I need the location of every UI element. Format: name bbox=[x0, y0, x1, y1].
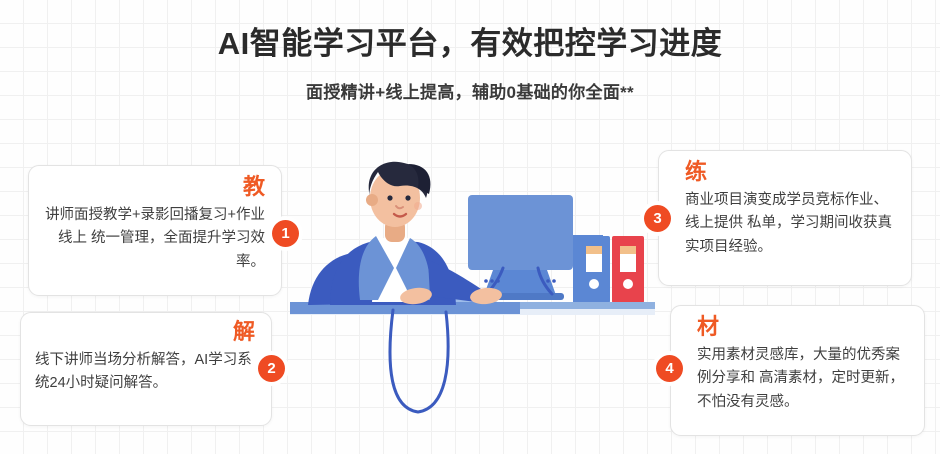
cable-icon bbox=[390, 310, 448, 412]
card-4-body: 实用素材灵感库，大量的优秀案例分享和 高清素材，定时更新，不怕没有灵感。 bbox=[697, 344, 910, 414]
card-3-body: 商业项目演变成学员竞标作业、线上提供 私单，学习期间收获真实项目经验。 bbox=[685, 189, 897, 259]
blue-binder-icon bbox=[577, 236, 610, 303]
eye-right bbox=[405, 195, 410, 200]
eye-left bbox=[387, 195, 392, 200]
card-1-heading: 教 bbox=[43, 176, 265, 198]
page-title: AI智能学习平台，有效把控学习进度 bbox=[0, 18, 940, 63]
page-root: AI智能学习平台，有效把控学习进度 面授精讲+线上提高，辅助0基础的你全面** bbox=[0, 0, 940, 454]
monitor-icon bbox=[468, 195, 573, 300]
card-1-body: 讲师面授教学+录影回播复习+作业线上 统一管理，全面提升学习效率。 bbox=[43, 204, 265, 274]
feature-card-4[interactable]: 材 实用素材灵感库，大量的优秀案例分享和 高清素材，定时更新，不怕没有灵感。 bbox=[670, 305, 925, 436]
feature-card-3[interactable]: 练 商业项目演变成学员竞标作业、线上提供 私单，学习期间收获真实项目经验。 bbox=[658, 150, 912, 286]
illustration-person-at-desk bbox=[290, 150, 655, 450]
red-binder-icon bbox=[612, 236, 644, 303]
card-4-heading: 材 bbox=[697, 316, 910, 338]
card-2-heading: 解 bbox=[35, 321, 255, 343]
card-2-number-badge: 2 bbox=[258, 355, 285, 382]
feature-card-2[interactable]: 解 线下讲师当场分析解答，AI学习系统24小时疑问解答。 bbox=[20, 312, 272, 426]
card-4-number-badge: 4 bbox=[656, 355, 683, 382]
feature-card-1[interactable]: 教 讲师面授教学+录影回播复习+作业线上 统一管理，全面提升学习效率。 bbox=[28, 165, 282, 296]
card-3-number-badge: 3 bbox=[644, 205, 671, 232]
card-1-number-badge: 1 bbox=[272, 220, 299, 247]
card-3-heading: 练 bbox=[685, 161, 897, 183]
page-subtitle: 面授精讲+线上提高，辅助0基础的你全面** bbox=[0, 78, 940, 103]
card-2-body: 线下讲师当场分析解答，AI学习系统24小时疑问解答。 bbox=[35, 349, 255, 396]
